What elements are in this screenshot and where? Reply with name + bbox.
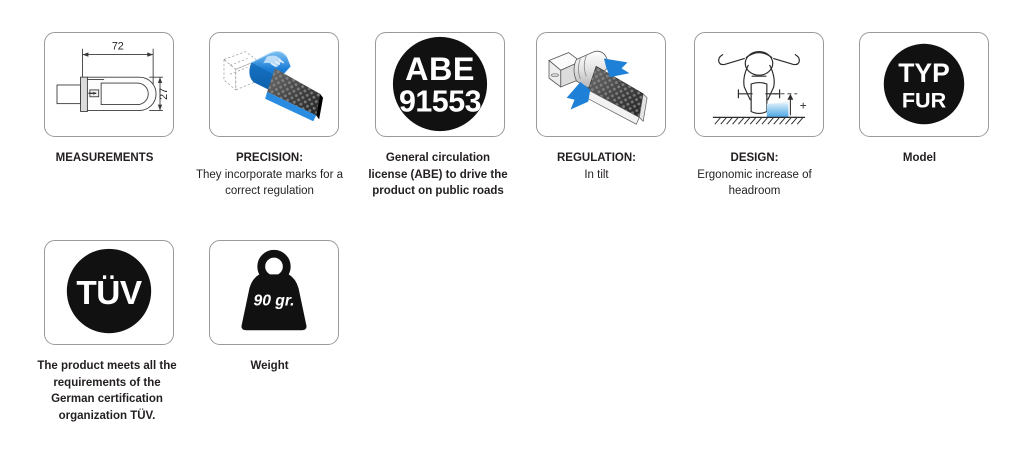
regulation-caption-heading: REGULATION: xyxy=(522,150,672,167)
feature-design[interactable]: + DESIGN: Ergonomic increase of headroom xyxy=(693,32,825,200)
abe-badge-line1: ABE xyxy=(405,51,475,87)
abe-badge-line2: 91553 xyxy=(399,84,481,118)
footpeg-precision-marks-icon xyxy=(210,33,338,136)
feature-model[interactable]: TYP FUR Model xyxy=(858,32,990,167)
regulation-caption: REGULATION: In tilt xyxy=(522,150,672,183)
footpeg-tilt-regulation-icon xyxy=(537,33,665,136)
feature-regulation[interactable]: REGULATION: In tilt xyxy=(535,32,667,183)
model-type-badge-icon: TYP FUR xyxy=(860,33,988,136)
model-badge-line1: TYP xyxy=(898,58,949,88)
abe-approval-badge-icon: ABE 91553 xyxy=(376,33,504,136)
weight-caption: Weight xyxy=(195,358,345,375)
abe-card[interactable]: ABE 91553 xyxy=(375,32,505,137)
precision-caption: PRECISION: They incorporate marks for a … xyxy=(195,150,345,200)
headroom-gradient-area xyxy=(767,101,789,118)
feature-tuv[interactable]: TÜV The product meets all the requiremen… xyxy=(43,240,175,424)
abe-caption: General circulation license (ABE) to dri… xyxy=(368,150,508,200)
measurements-caption-heading: MEASUREMENTS xyxy=(56,152,154,164)
abe-caption-body: General circulation license (ABE) to dri… xyxy=(368,152,507,197)
regulation-caption-body: In tilt xyxy=(522,167,672,184)
measurements-caption: MEASUREMENTS xyxy=(30,150,180,167)
model-caption-heading: Model xyxy=(903,152,936,164)
feature-precision[interactable]: PRECISION: They incorporate marks for a … xyxy=(208,32,340,200)
design-caption-heading: DESIGN: xyxy=(680,150,830,167)
measurements-card[interactable]: 72 27 xyxy=(44,32,174,137)
dimension-length-label: 72 xyxy=(112,41,124,53)
tuv-caption: The product meets all the requirements o… xyxy=(37,358,177,424)
feature-abe[interactable]: ABE 91553 General circulation license (A… xyxy=(374,32,506,200)
weight-kettlebell-icon: 90 gr. xyxy=(210,241,338,344)
precision-caption-heading: PRECISION: xyxy=(195,150,345,167)
footpeg-dimension-drawing-icon: 72 27 xyxy=(45,33,173,136)
feature-weight[interactable]: 90 gr. Weight xyxy=(208,240,340,375)
precision-card[interactable] xyxy=(209,32,339,137)
tuv-certification-badge-icon: TÜV xyxy=(45,241,173,344)
model-badge-line2: FUR xyxy=(902,88,947,113)
tuv-caption-body: The product meets all the requirements o… xyxy=(37,360,176,422)
weight-value-label: 90 gr. xyxy=(254,293,295,310)
tuv-card[interactable]: TÜV xyxy=(44,240,174,345)
design-caption-body: Ergonomic increase of headroom xyxy=(680,167,830,200)
precision-caption-body: They incorporate marks for a correct reg… xyxy=(195,167,345,200)
dimension-height-label: 27 xyxy=(158,88,170,100)
model-card[interactable]: TYP FUR xyxy=(859,32,989,137)
motorcycle-front-headroom-icon: + xyxy=(695,33,823,136)
weight-caption-heading: Weight xyxy=(250,360,288,372)
feature-icon-sheet: 72 27 MEASUREMENTS xyxy=(0,0,1024,465)
tuv-badge-line1: TÜV xyxy=(76,275,142,312)
regulation-card[interactable] xyxy=(536,32,666,137)
headroom-plus-label: + xyxy=(800,100,807,113)
design-caption: DESIGN: Ergonomic increase of headroom xyxy=(680,150,830,200)
model-caption: Model xyxy=(845,150,995,167)
feature-measurements[interactable]: 72 27 MEASUREMENTS xyxy=(43,32,175,167)
weight-card[interactable]: 90 gr. xyxy=(209,240,339,345)
design-card[interactable]: + xyxy=(694,32,824,137)
